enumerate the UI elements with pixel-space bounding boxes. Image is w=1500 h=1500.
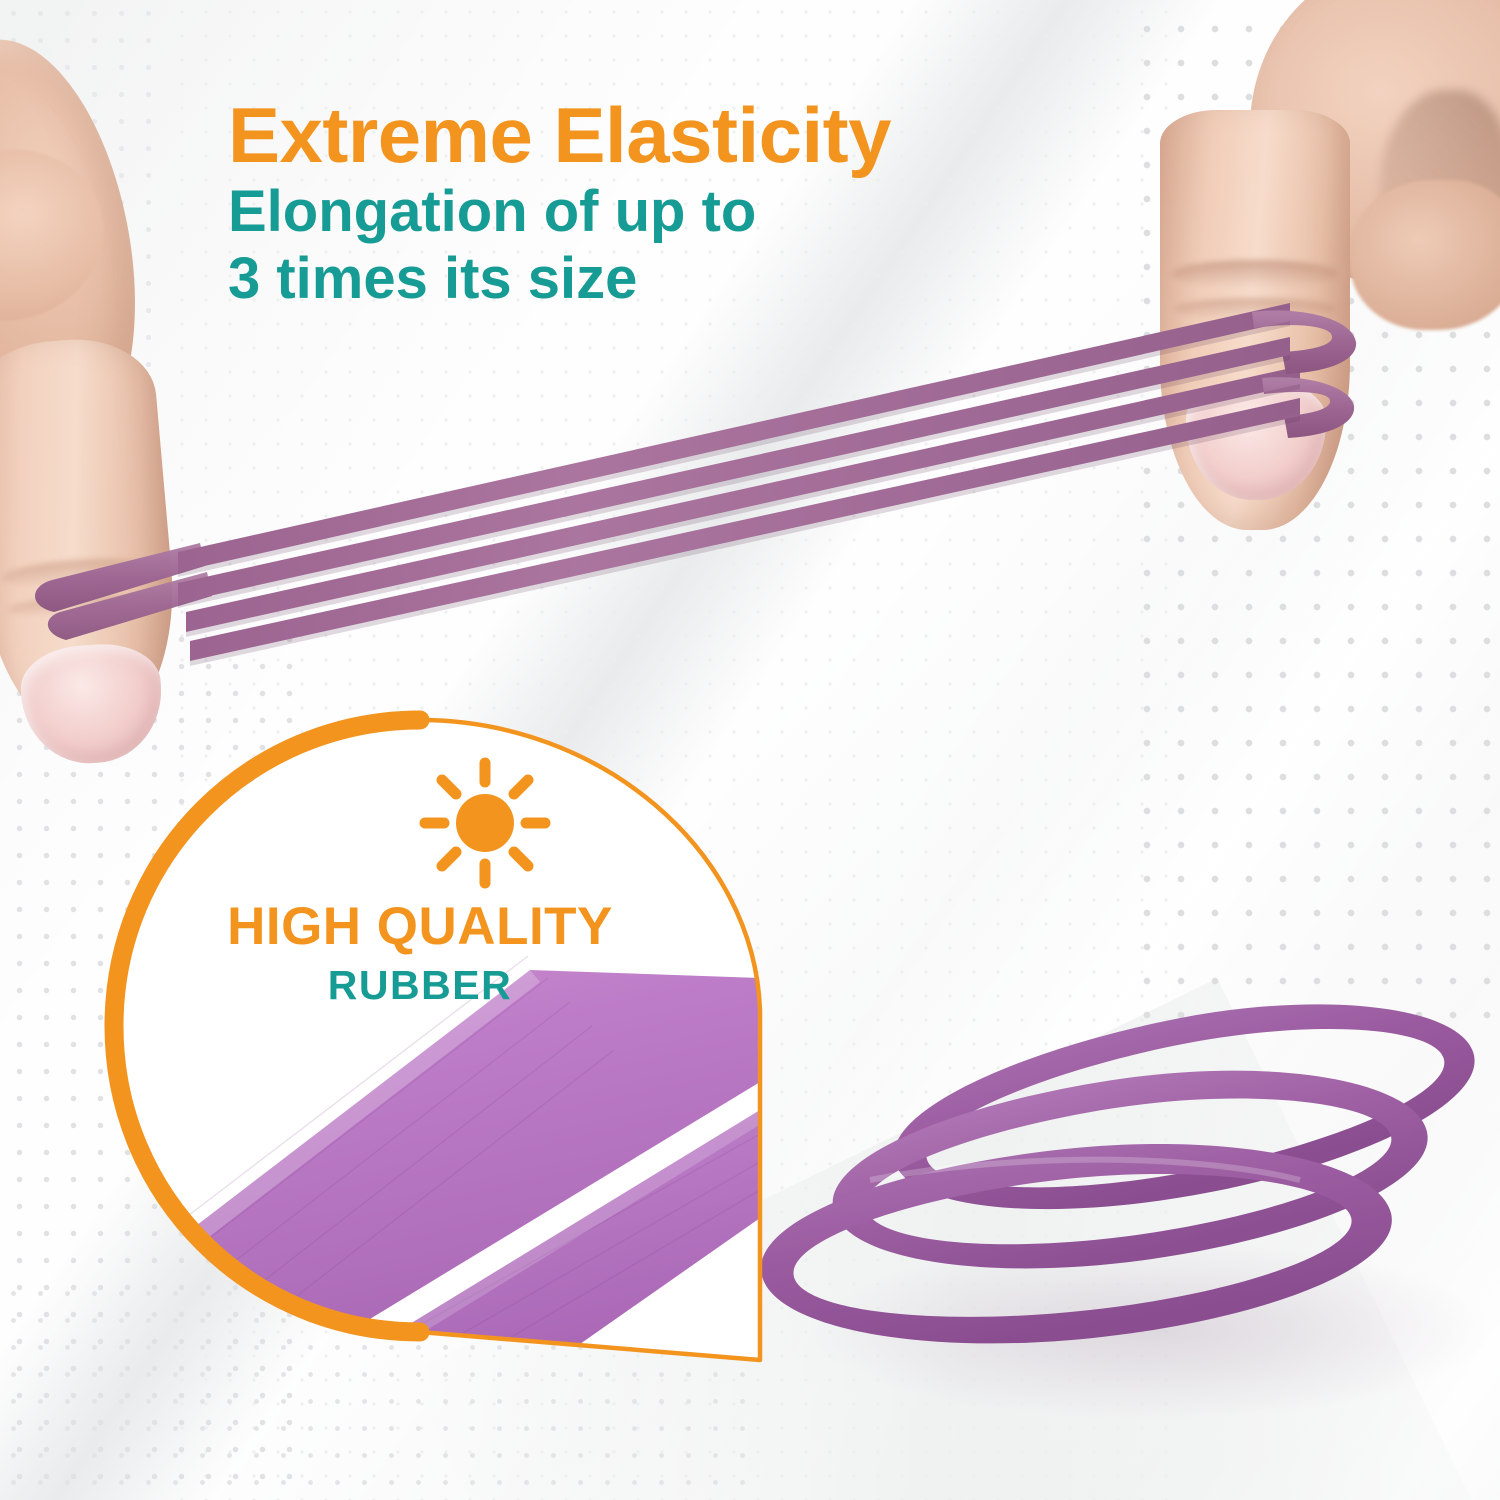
headline-subtitle-line-1: Elongation of up to: [228, 180, 1228, 244]
headline-title: Extreme Elasticity: [228, 96, 1228, 176]
headline-subtitle-line-2: 3 times its size: [228, 247, 1228, 311]
high-quality-badge: [100, 710, 780, 1370]
headline-block: Extreme Elasticity Elongation of up to 3…: [228, 96, 1228, 311]
sun-icon: [425, 763, 545, 883]
product-marketing-image: HIGH QUALITY RUBBER Extreme Elasticity E…: [0, 0, 1500, 1500]
